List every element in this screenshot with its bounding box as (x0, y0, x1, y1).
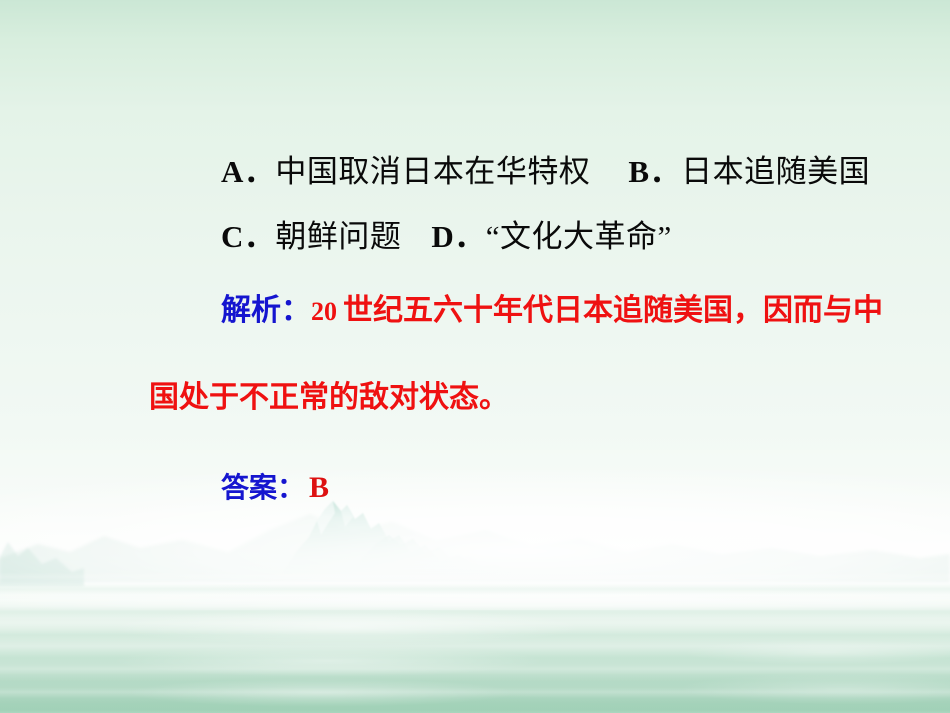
analysis-text-line-2: 国处于不正常的敌对状态。 (149, 380, 509, 415)
option-c-text: 朝鲜问题 (275, 219, 401, 254)
answer-value: B (309, 471, 329, 504)
option-b-letter: B． (628, 154, 681, 189)
option-a-letter: A． (221, 154, 275, 189)
option-d-letter: D． (431, 219, 485, 254)
option-c-letter: C． (221, 219, 275, 254)
analysis-text-line-1: 世纪五六十年代日本追随美国，因而与中 (343, 293, 883, 328)
option-d-text: “文化大革命” (486, 219, 672, 254)
option-a-text: 中国取消日本在华特权 (275, 154, 590, 189)
slide-canvas: A．中国取消日本在华特权B．日本追随美国 C．朝鲜问题D．“文化大革命” 解析：… (0, 0, 950, 713)
slide-content: A．中国取消日本在华特权B．日本追随美国 C．朝鲜问题D．“文化大革命” 解析：… (0, 0, 950, 713)
options-row-ab: A．中国取消日本在华特权B．日本追随美国 (221, 146, 870, 191)
analysis-line-1: 解析：20世纪五六十年代日本追随美国，因而与中 (221, 285, 883, 329)
option-b-text: 日本追随美国 (681, 154, 870, 189)
analysis-label: 解析： (221, 293, 311, 328)
analysis-line-2: 国处于不正常的敌对状态。 (149, 372, 509, 416)
answer-label: 答案： (221, 471, 305, 504)
analysis-number: 20 (311, 297, 337, 326)
options-row-cd: C．朝鲜问题D．“文化大革命” (221, 211, 672, 256)
answer-row: 答案：B (221, 466, 329, 506)
